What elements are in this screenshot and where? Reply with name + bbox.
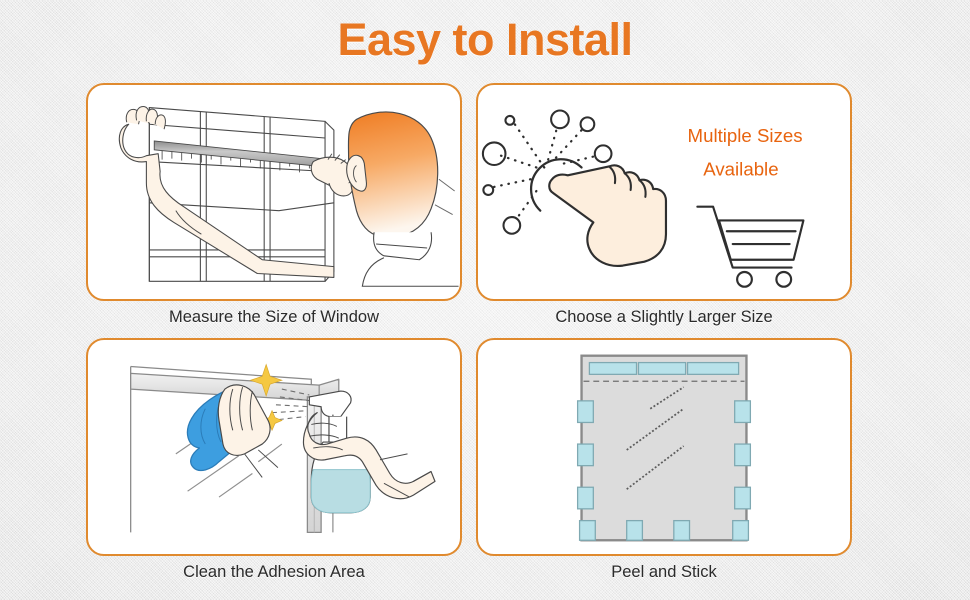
left-arm-and-hand — [119, 106, 334, 277]
illustration-clean-area — [88, 340, 460, 554]
caption-clean-area: Clean the Adhesion Area — [86, 563, 462, 582]
illustration-measure-window — [88, 85, 460, 299]
multiple-sizes-line-1: Multiple Sizes — [688, 125, 803, 146]
pointing-hand-icon — [549, 165, 666, 266]
left-velcro-tabs — [578, 401, 594, 509]
page-title: Easy to Install — [0, 14, 970, 66]
panel-choose-size: Multiple Sizes Available — [476, 83, 852, 301]
panel-measure-window — [86, 83, 462, 301]
caption-choose-size: Choose a Slightly Larger Size — [476, 308, 852, 327]
illustration-peel-and-stick — [478, 340, 850, 554]
head — [347, 112, 459, 286]
caption-measure-window: Measure the Size of Window — [86, 308, 462, 327]
right-velcro-tabs — [735, 401, 751, 509]
illustration-choose-size: Multiple Sizes Available — [478, 85, 850, 299]
tape-measure — [154, 141, 331, 174]
caption-peel-and-stick: Peel and Stick — [476, 563, 852, 582]
multiple-sizes-line-2: Available — [703, 158, 778, 179]
panel-peel-and-stick — [476, 338, 852, 556]
panel-clean-area — [86, 338, 462, 556]
infographic-page: Easy to Install — [0, 0, 970, 600]
screen-panel — [582, 356, 747, 541]
shopping-cart-icon — [697, 207, 803, 287]
